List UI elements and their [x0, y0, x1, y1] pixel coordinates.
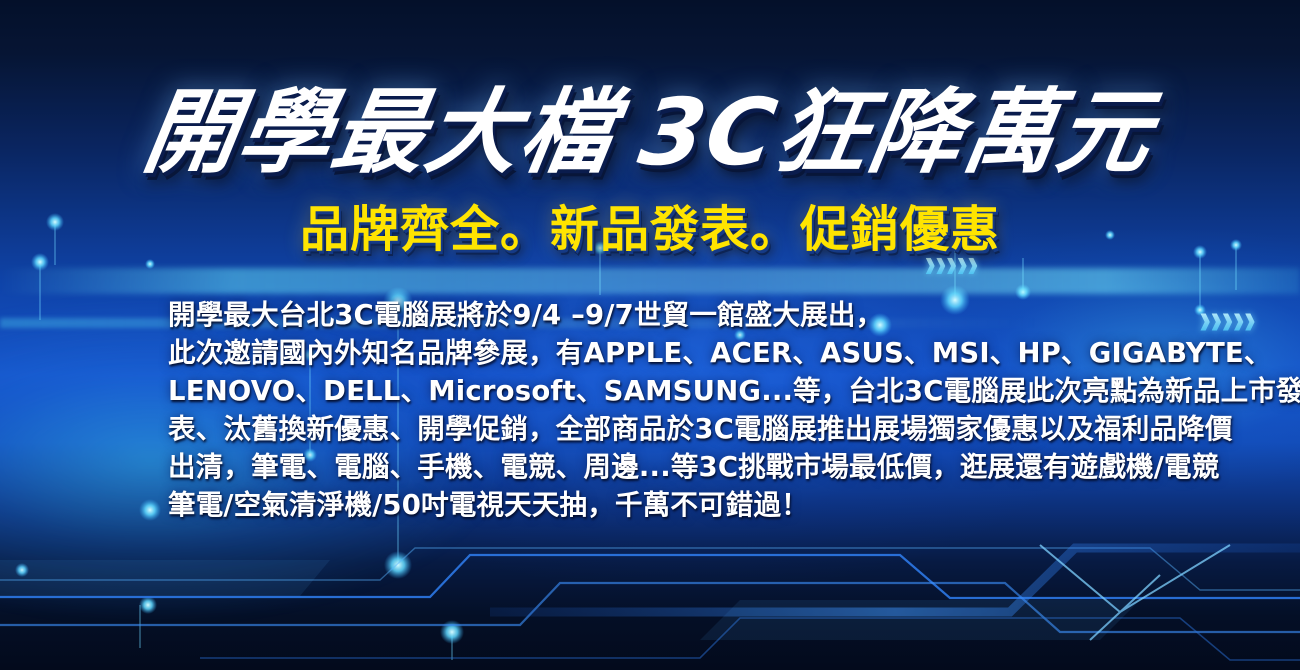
body-line: 此次邀請國內外知名品牌參展，有APPLE、ACER、ASUS、MSI、HP、GI…: [168, 334, 1198, 372]
headline-part-1: 開學最大檔: [136, 79, 623, 186]
headline: 開學最大檔3C狂降萬元: [0, 58, 1300, 191]
body-line: 表、汰舊換新優惠、開學促銷，全部商品於3C電腦展推出展場獨家優惠以及福利品降價: [168, 410, 1198, 448]
body-line: 開學最大台北3C電腦展將於9/4 –9/7世貿一館盛大展出，: [168, 296, 1198, 334]
subtitle: 品牌齊全。新品發表。促銷優惠: [0, 190, 1300, 261]
body-copy: 開學最大台北3C電腦展將於9/4 –9/7世貿一館盛大展出， 此次邀請國內外知名…: [168, 296, 1198, 524]
body-line: LENOVO、DELL、Microsoft、SAMSUNG...等，台北3C電腦…: [168, 372, 1198, 410]
body-line: 筆電/空氣清淨機/50吋電視天天抽，千萬不可錯過！: [168, 486, 1198, 524]
headline-part-2: 3C狂降萬元: [632, 79, 1160, 186]
banner-text: 開學最大檔3C狂降萬元 品牌齊全。新品發表。促銷優惠 開學最大台北3C電腦展將於…: [0, 0, 1300, 670]
promo-banner: 開學最大檔3C狂降萬元 品牌齊全。新品發表。促銷優惠 開學最大台北3C電腦展將於…: [0, 0, 1300, 670]
body-line: 出清，筆電、電腦、手機、電競、周邊...等3C挑戰市場最低價，逛展還有遊戲機/電…: [168, 448, 1198, 486]
